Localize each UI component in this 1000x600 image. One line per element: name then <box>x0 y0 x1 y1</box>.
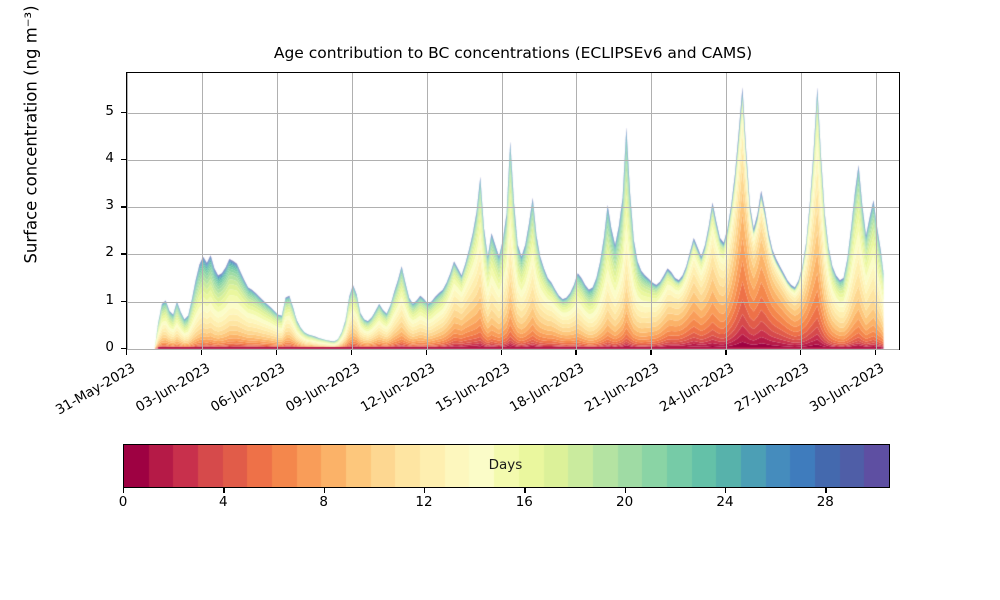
y-tick-label-1: 1 <box>84 292 114 308</box>
x-tick-mark <box>201 350 202 355</box>
x-tick-mark <box>875 350 876 355</box>
x-tick-mark <box>501 350 502 355</box>
x-tick-mark <box>351 350 352 355</box>
y-tick-label-3: 3 <box>84 197 114 213</box>
colorbar-tick-mark <box>324 488 325 493</box>
x-tick-mark <box>575 350 576 355</box>
x-tick-mark <box>426 350 427 355</box>
colorbar-tick-mark <box>524 488 525 493</box>
axis-decorations: 01234531-May-202303-Jun-202306-Jun-20230… <box>0 0 1000 600</box>
y-tick-label-0: 0 <box>84 339 114 355</box>
x-tick-mark <box>276 350 277 355</box>
colorbar-tick-label-0: 0 <box>103 494 143 510</box>
colorbar-tick-mark <box>123 488 124 493</box>
x-tick-mark <box>725 350 726 355</box>
x-tick-mark <box>126 350 127 355</box>
y-tick-label-2: 2 <box>84 244 114 260</box>
y-tick-mark <box>121 253 126 254</box>
x-tick-mark <box>800 350 801 355</box>
colorbar-tick-mark <box>725 488 726 493</box>
colorbar-tick-label-24: 24 <box>705 494 745 510</box>
y-tick-mark <box>121 206 126 207</box>
colorbar-tick-mark <box>625 488 626 493</box>
y-tick-label-4: 4 <box>84 150 114 166</box>
colorbar-tick-label-16: 16 <box>504 494 544 510</box>
colorbar-tick-mark <box>223 488 224 493</box>
colorbar-tick-label-8: 8 <box>304 494 344 510</box>
y-tick-mark <box>121 348 126 349</box>
y-tick-mark <box>121 159 126 160</box>
colorbar[interactable]: Days <box>123 444 888 486</box>
colorbar-tick-label-20: 20 <box>605 494 645 510</box>
y-tick-mark <box>121 112 126 113</box>
y-tick-label-5: 5 <box>84 103 114 119</box>
y-tick-mark <box>121 301 126 302</box>
colorbar-tick-mark <box>424 488 425 493</box>
x-tick-mark <box>650 350 651 355</box>
colorbar-tick-label-12: 12 <box>404 494 444 510</box>
figure-root: Age contribution to BC concentrations (E… <box>0 0 1000 600</box>
colorbar-gradient <box>123 444 890 488</box>
colorbar-tick-mark <box>825 488 826 493</box>
colorbar-tick-label-28: 28 <box>805 494 845 510</box>
colorbar-tick-label-4: 4 <box>203 494 243 510</box>
